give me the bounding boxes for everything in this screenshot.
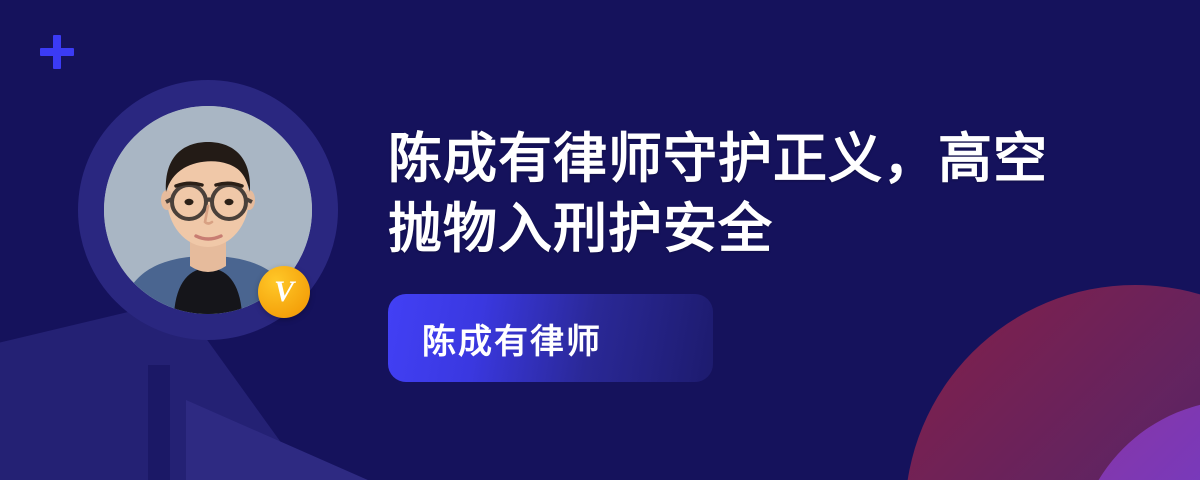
content-block: 陈成有律师守护正义，高空抛物入刑护安全 陈成有律师 [388,124,1128,382]
lawyer-name-cta-button[interactable]: 陈成有律师 [388,294,713,382]
navy-bar-shape [148,365,170,480]
verified-check-glyph: V [274,277,294,307]
promo-banner: V 陈成有律师守护正义，高空抛物入刑护安全 陈成有律师 [0,0,1200,480]
headline: 陈成有律师守护正义，高空抛物入刑护安全 [388,124,1048,264]
avatar[interactable]: V [78,80,338,340]
verified-badge-icon: V [258,266,310,318]
plus-icon [40,35,74,69]
